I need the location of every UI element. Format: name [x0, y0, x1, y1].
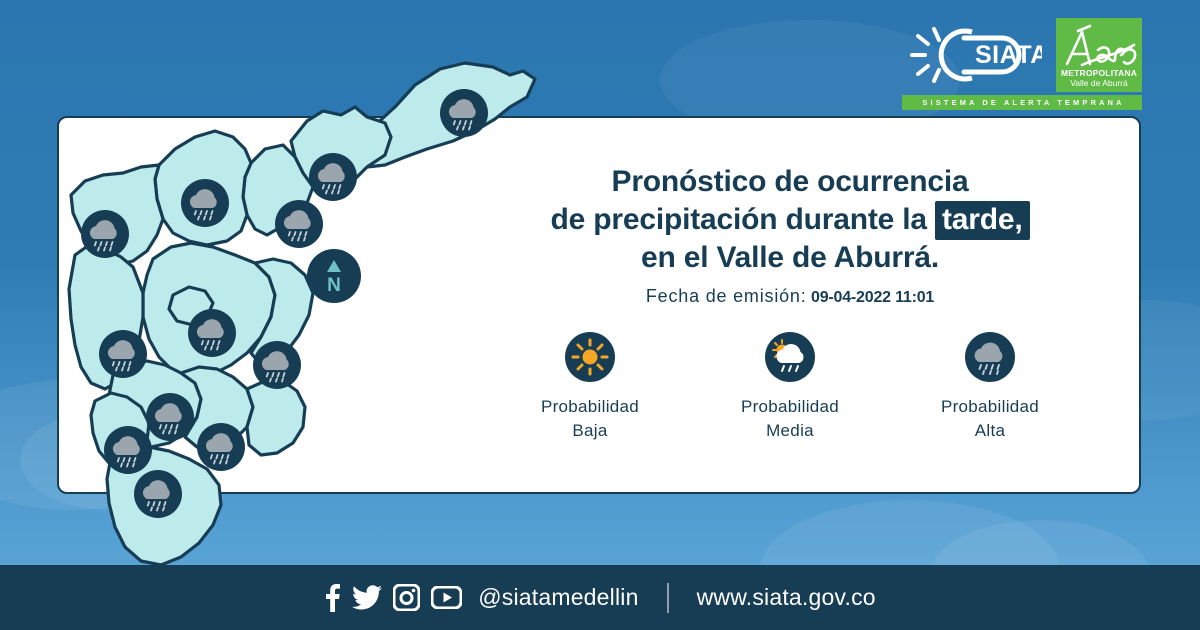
headline-line-1: Pronóstico de ocurrencia [480, 163, 1100, 201]
headline-line-3: en el Valle de Aburrá. [480, 239, 1100, 277]
compass-north-indicator: N [307, 249, 361, 303]
youtube-icon[interactable] [431, 586, 462, 609]
amva-line2: Valle de Aburrá [1070, 78, 1128, 88]
website-url[interactable]: www.siata.gov.co [697, 584, 876, 611]
map-marker-bello [181, 179, 229, 227]
amva-logo: METROPOLITANA Valle de Aburrá [1056, 18, 1142, 92]
north-arrow-icon: N [307, 249, 361, 303]
legend-label-media: Probabilidad Media [741, 395, 839, 443]
amva-area-script-icon [1060, 24, 1138, 68]
headline-highlight-tarde: tarde, [935, 201, 1030, 240]
map-marker-itagui [146, 393, 194, 441]
map-marker-sabaneta [197, 423, 245, 471]
twitter-icon[interactable] [352, 585, 382, 611]
headline-line-2: de precipitación durante la tarde, [480, 201, 1100, 239]
legend-label-alta: Probabilidad Alta [941, 395, 1039, 443]
social-icon-group [324, 584, 462, 612]
page-title: Pronóstico de ocurrencia de precipitació… [480, 163, 1100, 277]
instagram-icon[interactable] [393, 584, 420, 611]
map-marker-copacabana [275, 200, 323, 248]
amva-line1: METROPOLITANA [1061, 68, 1137, 78]
map-marker-san-jeronimo [99, 330, 147, 378]
early-warning-tagline: SISTEMA DE ALERTA TEMPRANA [902, 95, 1142, 110]
legend-label-baja-line1: Probabilidad [541, 395, 639, 419]
footer-divider [667, 583, 669, 613]
legend-item-alta: Probabilidad Alta [900, 332, 1080, 443]
sun-cloud-rain-icon [765, 332, 815, 382]
headline-line-2-text: de precipitación durante la [551, 203, 936, 236]
map-marker-san-pedro [81, 210, 129, 258]
facebook-icon[interactable] [324, 584, 341, 612]
infographic-root: SIATA METROPOLITANA Valle de Aburrá SIST… [0, 0, 1200, 630]
footer-bar: @siatamedellin www.siata.gov.co [0, 565, 1200, 630]
social-handle[interactable]: @siatamedellin [478, 584, 638, 611]
siata-sun-cloud-icon: SIATA [902, 18, 1042, 92]
map-marker-girardota [309, 153, 357, 201]
legend-label-media-line1: Probabilidad [741, 395, 839, 419]
probability-legend: Probabilidad Baja [500, 332, 1080, 443]
map-marker-la-estrella [104, 426, 152, 474]
siata-logo: SIATA [902, 18, 1042, 92]
emission-date-label: Fecha de emisión: [646, 286, 807, 306]
compass-label: N [327, 275, 341, 296]
map-marker-envigado [253, 341, 301, 389]
cloud-rain-icon [965, 332, 1015, 382]
sun-icon [565, 332, 615, 382]
svg-text:SIATA: SIATA [975, 41, 1042, 69]
legend-label-alta-line1: Probabilidad [941, 395, 1039, 419]
emission-date: Fecha de emisión: 09-04-2022 11:01 [480, 286, 1100, 307]
emission-date-value: 09-04-2022 11:01 [811, 289, 934, 306]
legend-label-media-line2: Media [741, 419, 839, 443]
legend-label-baja: Probabilidad Baja [541, 395, 639, 443]
legend-label-baja-line2: Baja [541, 419, 639, 443]
map-marker-medellin [188, 309, 236, 357]
legend-label-alta-line2: Alta [941, 419, 1039, 443]
map-marker-caldas [134, 470, 182, 518]
map-marker-barbosa [440, 89, 488, 137]
legend-item-baja: Probabilidad Baja [500, 332, 680, 443]
valle-de-aburra-map: N [55, 45, 555, 585]
legend-item-media: Probabilidad Media [700, 332, 880, 443]
logo-group: SIATA METROPOLITANA Valle de Aburrá SIST… [902, 18, 1142, 110]
